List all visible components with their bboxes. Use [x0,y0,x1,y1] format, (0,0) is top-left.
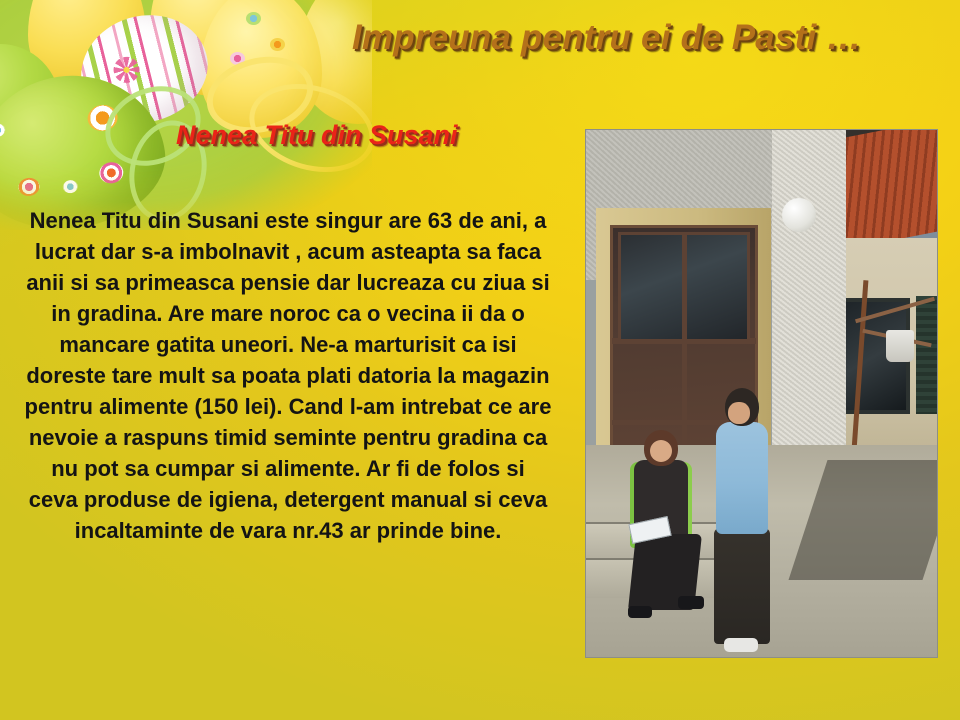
photo-seated-woman-face [650,440,672,462]
egg-dot-blue [0,123,6,138]
photo-shutter [916,296,938,414]
egg-dot-blue [62,179,79,194]
egg-dot-pink [17,177,40,198]
easter-eggs-photo [0,0,372,230]
page-subtitle: Nenea Titu din Susani [176,120,458,151]
egg-sticker-flower [270,38,285,51]
egg-sticker-flower [246,12,261,25]
egg-dot-orange [98,161,125,185]
egg-flower-sticker [110,54,142,86]
photo-woman-shoe [628,606,652,618]
page-title: Impreuna pentru ei de Pasti … [352,18,862,58]
photo-man-shoe [724,638,758,652]
story-paragraph: Nenea Titu din Susani este singur are 63… [24,205,552,546]
photo-wall-lamp [782,198,816,232]
photo-bucket [886,330,914,362]
photo-transom-mullion [682,232,687,342]
photo-standing-man-shirt [716,422,768,534]
photo-woman-shoe [678,596,704,609]
photo-standing-man-pants [714,528,770,644]
photo-standing-man-face [728,402,750,424]
interview-photo [585,129,938,658]
slide-canvas: Impreuna pentru ei de Pasti … Nenea Titu… [0,0,960,720]
